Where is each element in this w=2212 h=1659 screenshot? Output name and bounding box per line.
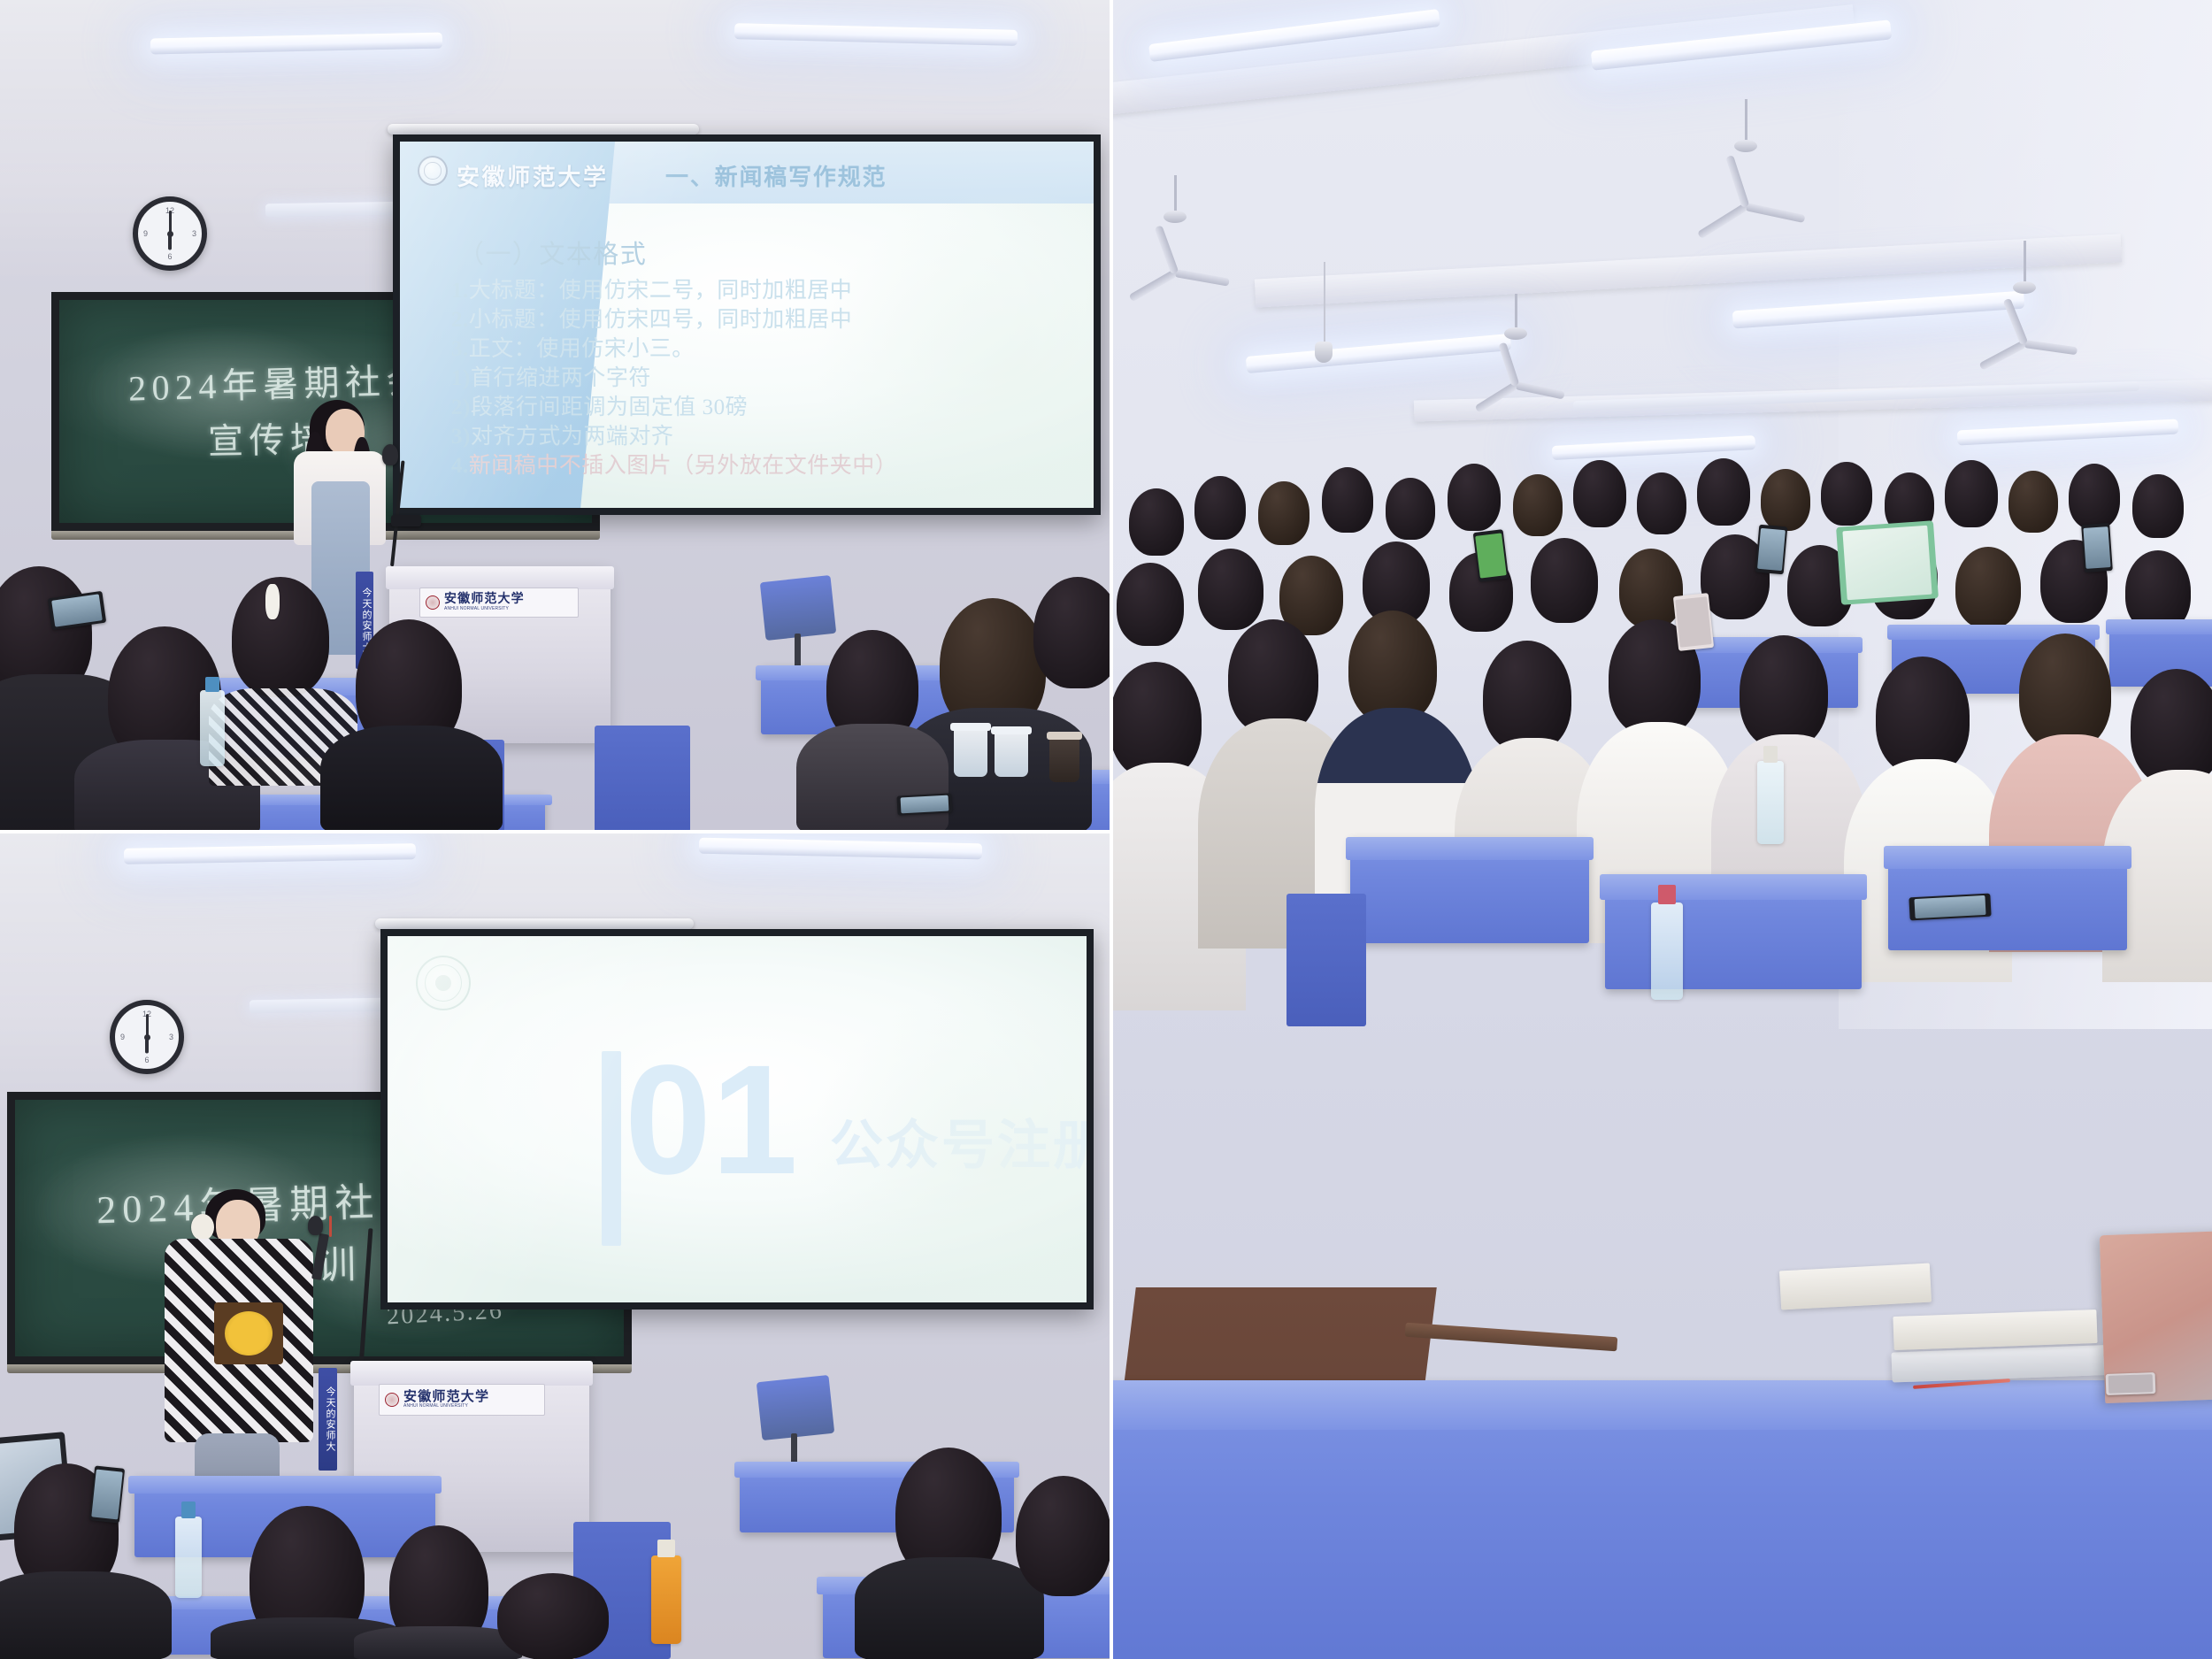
drink-cup [1049, 736, 1079, 782]
phone-screen [1914, 895, 1986, 919]
lectern-top [350, 1361, 593, 1386]
line-number: 1. [451, 279, 469, 303]
bottle-cap [205, 677, 219, 692]
audience-head [497, 1573, 609, 1659]
lectern-top [386, 566, 614, 589]
audience-head [1194, 476, 1246, 540]
audience-phone [1673, 593, 1714, 651]
audience-phone [2081, 523, 2113, 572]
line-text: 正文：使用仿宋小三。 [469, 337, 695, 361]
slide-two: 01 公众号注册 [388, 936, 1087, 1302]
cup-lid [1047, 732, 1083, 739]
clock-numeral: 9 [120, 1033, 125, 1041]
audience-shoulders [796, 724, 949, 830]
line-text: 新闻稿中不插入图片（另外放在文件夹中） [469, 454, 898, 478]
audience-shoulders [855, 1557, 1044, 1659]
water-bottle [200, 690, 225, 766]
slide-body-line: 2.小标题：使用仿宋四号，同时加粗居中 [451, 302, 852, 334]
ceiling-fan [1971, 241, 2078, 347]
cup-lid [950, 723, 991, 731]
desk-surface [1884, 846, 2132, 869]
hair-clip [265, 584, 280, 619]
ceiling-fan [1467, 294, 1564, 391]
desk-surface [2106, 619, 2212, 634]
audience-head [1113, 662, 1202, 779]
fan-blade [1155, 225, 1179, 274]
juice-bottle [651, 1555, 681, 1644]
line-number: 1) [451, 366, 471, 390]
bottle-cap [1763, 746, 1778, 763]
audience-head [1016, 1476, 1110, 1596]
audience-head [232, 577, 329, 697]
nameplate-cn: 安徽师范大学 [403, 1391, 489, 1405]
lecture-chair [757, 1375, 834, 1440]
phone-screen [1475, 533, 1507, 578]
audience-head [1637, 472, 1686, 534]
line-text: 大标题：使用仿宋二号，同时加粗居中 [469, 279, 853, 303]
line-number: 3. [451, 337, 469, 361]
slide-body-line: 1)首行缩进两个字符 [451, 360, 651, 392]
projection-screen-frame: 01 公众号注册 [380, 929, 1094, 1310]
front-desk [1113, 1380, 2212, 1659]
audience-head [1322, 467, 1373, 533]
wall-clock: 12 3 6 9 [133, 196, 207, 271]
audience-head [1740, 635, 1828, 749]
smiley-face-icon [225, 1311, 273, 1356]
section-number: 01 [625, 1042, 798, 1198]
panel-right: hp [1113, 0, 2212, 1659]
water-bottle [175, 1517, 202, 1598]
audience-head [2019, 634, 2111, 750]
security-camera [1315, 342, 1333, 363]
clock-numeral: 6 [144, 1056, 149, 1064]
line-number: 2. [451, 308, 469, 332]
bottle-cap [657, 1540, 674, 1557]
audience-tablet [1836, 520, 1939, 604]
phone-on-desk [896, 793, 952, 815]
audience-phone [1473, 529, 1509, 582]
notebook [1779, 1263, 1932, 1310]
university-seal-icon [426, 595, 440, 610]
screen-roller [388, 124, 699, 134]
wall-clock: 12 3 6 9 [110, 1000, 184, 1074]
screen-roller [375, 918, 694, 929]
phone-screen [1676, 597, 1712, 648]
audience-head [1945, 460, 1998, 527]
desk-surface [128, 1476, 442, 1494]
line-text: 段落行间距调为固定值 30磅 [471, 396, 748, 419]
bottle-cap [181, 1502, 196, 1517]
university-seal-watermark-icon [416, 956, 471, 1010]
lecture-chair [760, 575, 836, 641]
slide-body-line: 1.大标题：使用仿宋二号，同时加粗居中 [451, 273, 852, 304]
audience-head [1117, 563, 1184, 646]
nameplate-en: ANHUI NORMAL UNIVERSITY [444, 607, 525, 611]
nameplate-cn: 安徽师范大学 [444, 594, 525, 607]
line-number: 4. [451, 454, 469, 478]
clock-numeral: 9 [143, 229, 148, 238]
phone-on-desk [1909, 894, 1991, 921]
audience-head [2131, 669, 2212, 786]
fan-hub [1734, 140, 1757, 152]
collage-divider-vertical [1110, 0, 1113, 1659]
desk-side-panel [595, 726, 690, 830]
hair-scrunchie [191, 1214, 214, 1240]
clock-numeral: 3 [192, 229, 196, 238]
audience-head [1129, 488, 1184, 556]
phone-screen [91, 1470, 122, 1519]
fan-blade [2003, 298, 2029, 345]
clock-center-pin [167, 231, 173, 237]
slide-header-title: 一、新闻稿写作规范 [665, 159, 887, 192]
audience-head [1198, 549, 1263, 630]
audience-head [1448, 464, 1501, 531]
audience-head [1573, 460, 1626, 527]
audience-shoulders [0, 1571, 172, 1659]
line-text: 首行缩进两个字符 [471, 366, 651, 390]
nameplate-text: 安徽师范大学 ANHUI NORMAL UNIVERSITY [403, 1391, 489, 1409]
audience-head [1483, 641, 1571, 752]
lectern-nameplate: 安徽师范大学 ANHUI NORMAL UNIVERSITY [379, 1384, 545, 1416]
cup-lid [991, 726, 1032, 733]
photo-collage: 12 3 6 9 2024年暑期社会实践 宣传培训 2024.5.26 [0, 0, 2212, 1659]
drink-cup [995, 731, 1028, 777]
section-title: 公众号注册 [830, 1102, 1087, 1179]
fan-hub [2013, 281, 2036, 294]
audience-shoulders [320, 726, 503, 830]
desk-surface [1600, 874, 1867, 900]
desk-surface [1346, 837, 1594, 860]
bottle-cap [1658, 885, 1676, 904]
audience-head [1876, 657, 1970, 775]
audience-head [1386, 478, 1435, 540]
audience-phone [1755, 525, 1788, 575]
microphone-antenna [329, 1216, 332, 1237]
audience-head [1955, 547, 2021, 628]
desk-surface [1113, 1380, 2212, 1430]
student-desk [1350, 837, 1589, 943]
slide-body-line: 2)段落行间距调为固定值 30磅 [451, 389, 748, 421]
water-bottle [1757, 761, 1784, 844]
audience-head [1761, 469, 1810, 531]
slide-body-line: 3)对齐方式为两端对齐 [451, 419, 673, 450]
seal-inner-ring [424, 162, 441, 179]
phone-screen [51, 594, 103, 627]
phone-screen [1757, 528, 1786, 572]
collage-divider-horizontal [0, 830, 1110, 833]
audience-head [1513, 474, 1563, 536]
audience-head [1258, 481, 1310, 545]
microphone-head [382, 444, 398, 465]
presenter-clicker [391, 515, 421, 526]
fan-hub [1164, 211, 1187, 223]
audience-head [1033, 577, 1110, 688]
audience-shoulders [354, 1626, 522, 1659]
audience-head [2069, 464, 2120, 529]
lectern-side-banner: 今天的安师大 [319, 1368, 337, 1471]
camera-cable [1324, 262, 1325, 345]
ceiling-fan [1122, 175, 1228, 281]
audience-head [1228, 619, 1318, 734]
slide-heading: （一）文本格式 [458, 234, 647, 271]
fan-hub [1504, 327, 1527, 340]
nameplate-en: ANHUI NORMAL UNIVERSITY [403, 1404, 489, 1409]
clock-numeral: 6 [167, 252, 172, 261]
audience-head [1821, 462, 1872, 526]
slide-body-line: 3.正文：使用仿宋小三。 [451, 331, 695, 363]
nameplate-text: 安徽师范大学 ANHUI NORMAL UNIVERSITY [444, 594, 525, 611]
fan-blade [1498, 342, 1519, 387]
audience-head [2008, 471, 2058, 533]
presenter-two [159, 1189, 319, 1508]
drink-cup [954, 727, 987, 777]
tablet-screen [1842, 526, 1932, 600]
audience-head [1619, 549, 1683, 628]
projection-screen-frame: 安徽师范大学 一、新闻稿写作规范 （一）文本格式 1.大标题：使用仿宋二号，同时… [393, 134, 1101, 515]
clock-center-pin [144, 1034, 150, 1041]
phone-on-front-desk [2106, 1372, 2156, 1395]
university-seal-icon [385, 1393, 399, 1407]
line-text: 对齐方式为两端对齐 [471, 425, 674, 449]
slide-brand-name: 安徽师范大学 [457, 159, 609, 192]
line-text: 小标题：使用仿宋四号，同时加粗居中 [469, 308, 853, 332]
line-number: 2) [451, 396, 471, 419]
panel-top-left: 12 3 6 9 2024年暑期社会实践 宣传培训 2024.5.26 [0, 0, 1110, 830]
desk-side-panel [1286, 894, 1366, 1026]
microphone-head [308, 1216, 323, 1235]
line-number: 3) [451, 425, 471, 449]
phone-screen [2108, 1374, 2153, 1394]
water-bottle [1651, 902, 1683, 1000]
ceiling-fan [1688, 99, 1803, 214]
university-seal-icon [418, 156, 448, 186]
section-accent-bar [602, 1051, 621, 1246]
student-desk [1605, 874, 1862, 989]
phone-screen [900, 795, 949, 814]
slide-body-line: 4.新闻稿中不插入图片（另外放在文件夹中） [451, 448, 897, 480]
audience-head [1697, 458, 1750, 526]
audience-head [1348, 611, 1437, 724]
fan-blade [1725, 155, 1749, 208]
audience-phone [89, 1465, 125, 1523]
audience-head [1531, 538, 1598, 623]
phone-screen [2083, 526, 2110, 569]
lectern-nameplate: 安徽师范大学 ANHUI NORMAL UNIVERSITY [419, 588, 579, 618]
notebook [1893, 1310, 2097, 1350]
clock-numeral: 3 [169, 1033, 173, 1041]
panel-bottom-left: 12 3 6 9 2024年暑期社会实践 宣传培训 2024.5.26 [0, 833, 1110, 1659]
audience-head [2132, 474, 2184, 538]
slide-one: 安徽师范大学 一、新闻稿写作规范 （一）文本格式 1.大标题：使用仿宋二号，同时… [400, 142, 1094, 508]
